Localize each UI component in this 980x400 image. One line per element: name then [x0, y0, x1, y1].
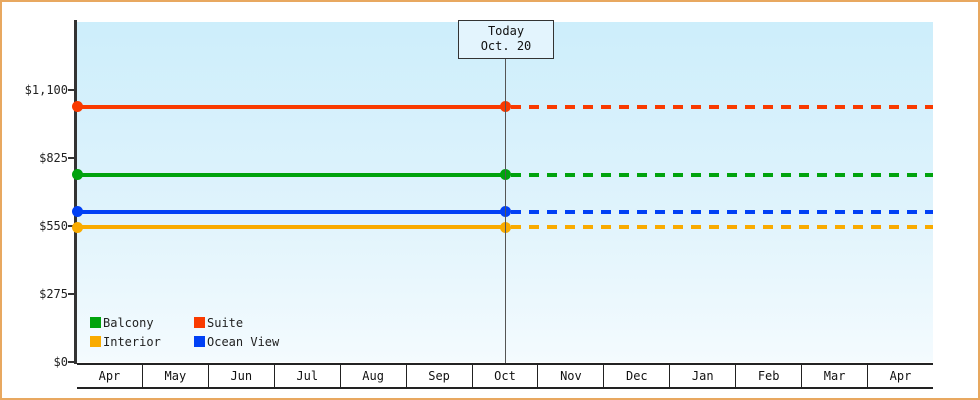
y-axis-label-wrap: $0: [2, 356, 68, 368]
legend-item-suite[interactable]: Suite: [194, 317, 243, 329]
y-axis-label-wrap: $825: [2, 152, 68, 164]
y-axis-label-wrap: $550: [2, 220, 68, 232]
y-axis-tick: [68, 89, 75, 91]
y-axis-label-wrap: $1,100: [2, 84, 68, 96]
month-cell-oct-6[interactable]: Oct: [473, 365, 539, 387]
legend-swatch-icon: [90, 336, 101, 347]
price-trend-chart: $1,100$825$550$275$0 Today Oct. 20 Balco…: [0, 0, 980, 400]
y-axis-label: $0: [6, 356, 68, 368]
legend-label: Suite: [207, 317, 243, 329]
legend-label: Ocean View: [207, 336, 279, 348]
y-axis-label: $1,100: [6, 84, 68, 96]
y-axis-label: $275: [6, 288, 68, 300]
today-label-line2: Oct. 20: [469, 39, 543, 54]
month-cell-jan-9[interactable]: Jan: [670, 365, 736, 387]
series-line-dashed-ocean-view: [511, 210, 933, 214]
month-cell-dec-8[interactable]: Dec: [604, 365, 670, 387]
series-line-dashed-interior: [511, 225, 933, 229]
legend-swatch-icon: [194, 317, 205, 328]
series-line-dashed-balcony: [511, 173, 933, 177]
legend-item-balcony[interactable]: Balcony: [90, 317, 176, 329]
y-axis-label: $825: [6, 152, 68, 164]
y-axis-tick: [68, 361, 75, 363]
series-point-start-balcony[interactable]: [72, 169, 83, 180]
y-axis-tick: [68, 157, 75, 159]
chart-legend: BalconySuiteInteriorOcean View: [90, 313, 297, 351]
y-axis-line: [74, 20, 77, 364]
series-line-dashed-suite: [511, 105, 933, 109]
month-cell-nov-7[interactable]: Nov: [538, 365, 604, 387]
today-label-line1: Today: [469, 24, 543, 39]
month-cell-mar-11[interactable]: Mar: [802, 365, 868, 387]
month-axis-row: AprMayJunJulAugSepOctNovDecJanFebMarApr: [77, 363, 933, 389]
month-cell-sep-5[interactable]: Sep: [407, 365, 473, 387]
today-vertical-line: [505, 22, 506, 364]
legend-item-interior[interactable]: Interior: [90, 336, 176, 348]
y-axis-label-wrap: $275: [2, 288, 68, 300]
today-annotation-box: Today Oct. 20: [458, 20, 554, 59]
legend-label: Balcony: [103, 317, 154, 329]
legend-swatch-icon: [90, 317, 101, 328]
y-axis-tick: [68, 293, 75, 295]
series-line-solid-interior: [77, 225, 505, 229]
month-cell-apr-12[interactable]: Apr: [868, 365, 933, 387]
month-cell-jun-2[interactable]: Jun: [209, 365, 275, 387]
month-cell-feb-10[interactable]: Feb: [736, 365, 802, 387]
month-cell-aug-4[interactable]: Aug: [341, 365, 407, 387]
series-line-solid-suite: [77, 105, 505, 109]
legend-label: Interior: [103, 336, 161, 348]
series-line-solid-ocean-view: [77, 210, 505, 214]
legend-row: InteriorOcean View: [90, 332, 297, 351]
y-axis-label: $550: [6, 220, 68, 232]
month-cell-may-1[interactable]: May: [143, 365, 209, 387]
month-cell-jul-3[interactable]: Jul: [275, 365, 341, 387]
series-point-start-interior[interactable]: [72, 222, 83, 233]
legend-item-ocean-view[interactable]: Ocean View: [194, 336, 279, 348]
series-line-solid-balcony: [77, 173, 505, 177]
legend-row: BalconySuite: [90, 313, 297, 332]
month-cell-apr-0[interactable]: Apr: [77, 365, 143, 387]
legend-swatch-icon: [194, 336, 205, 347]
